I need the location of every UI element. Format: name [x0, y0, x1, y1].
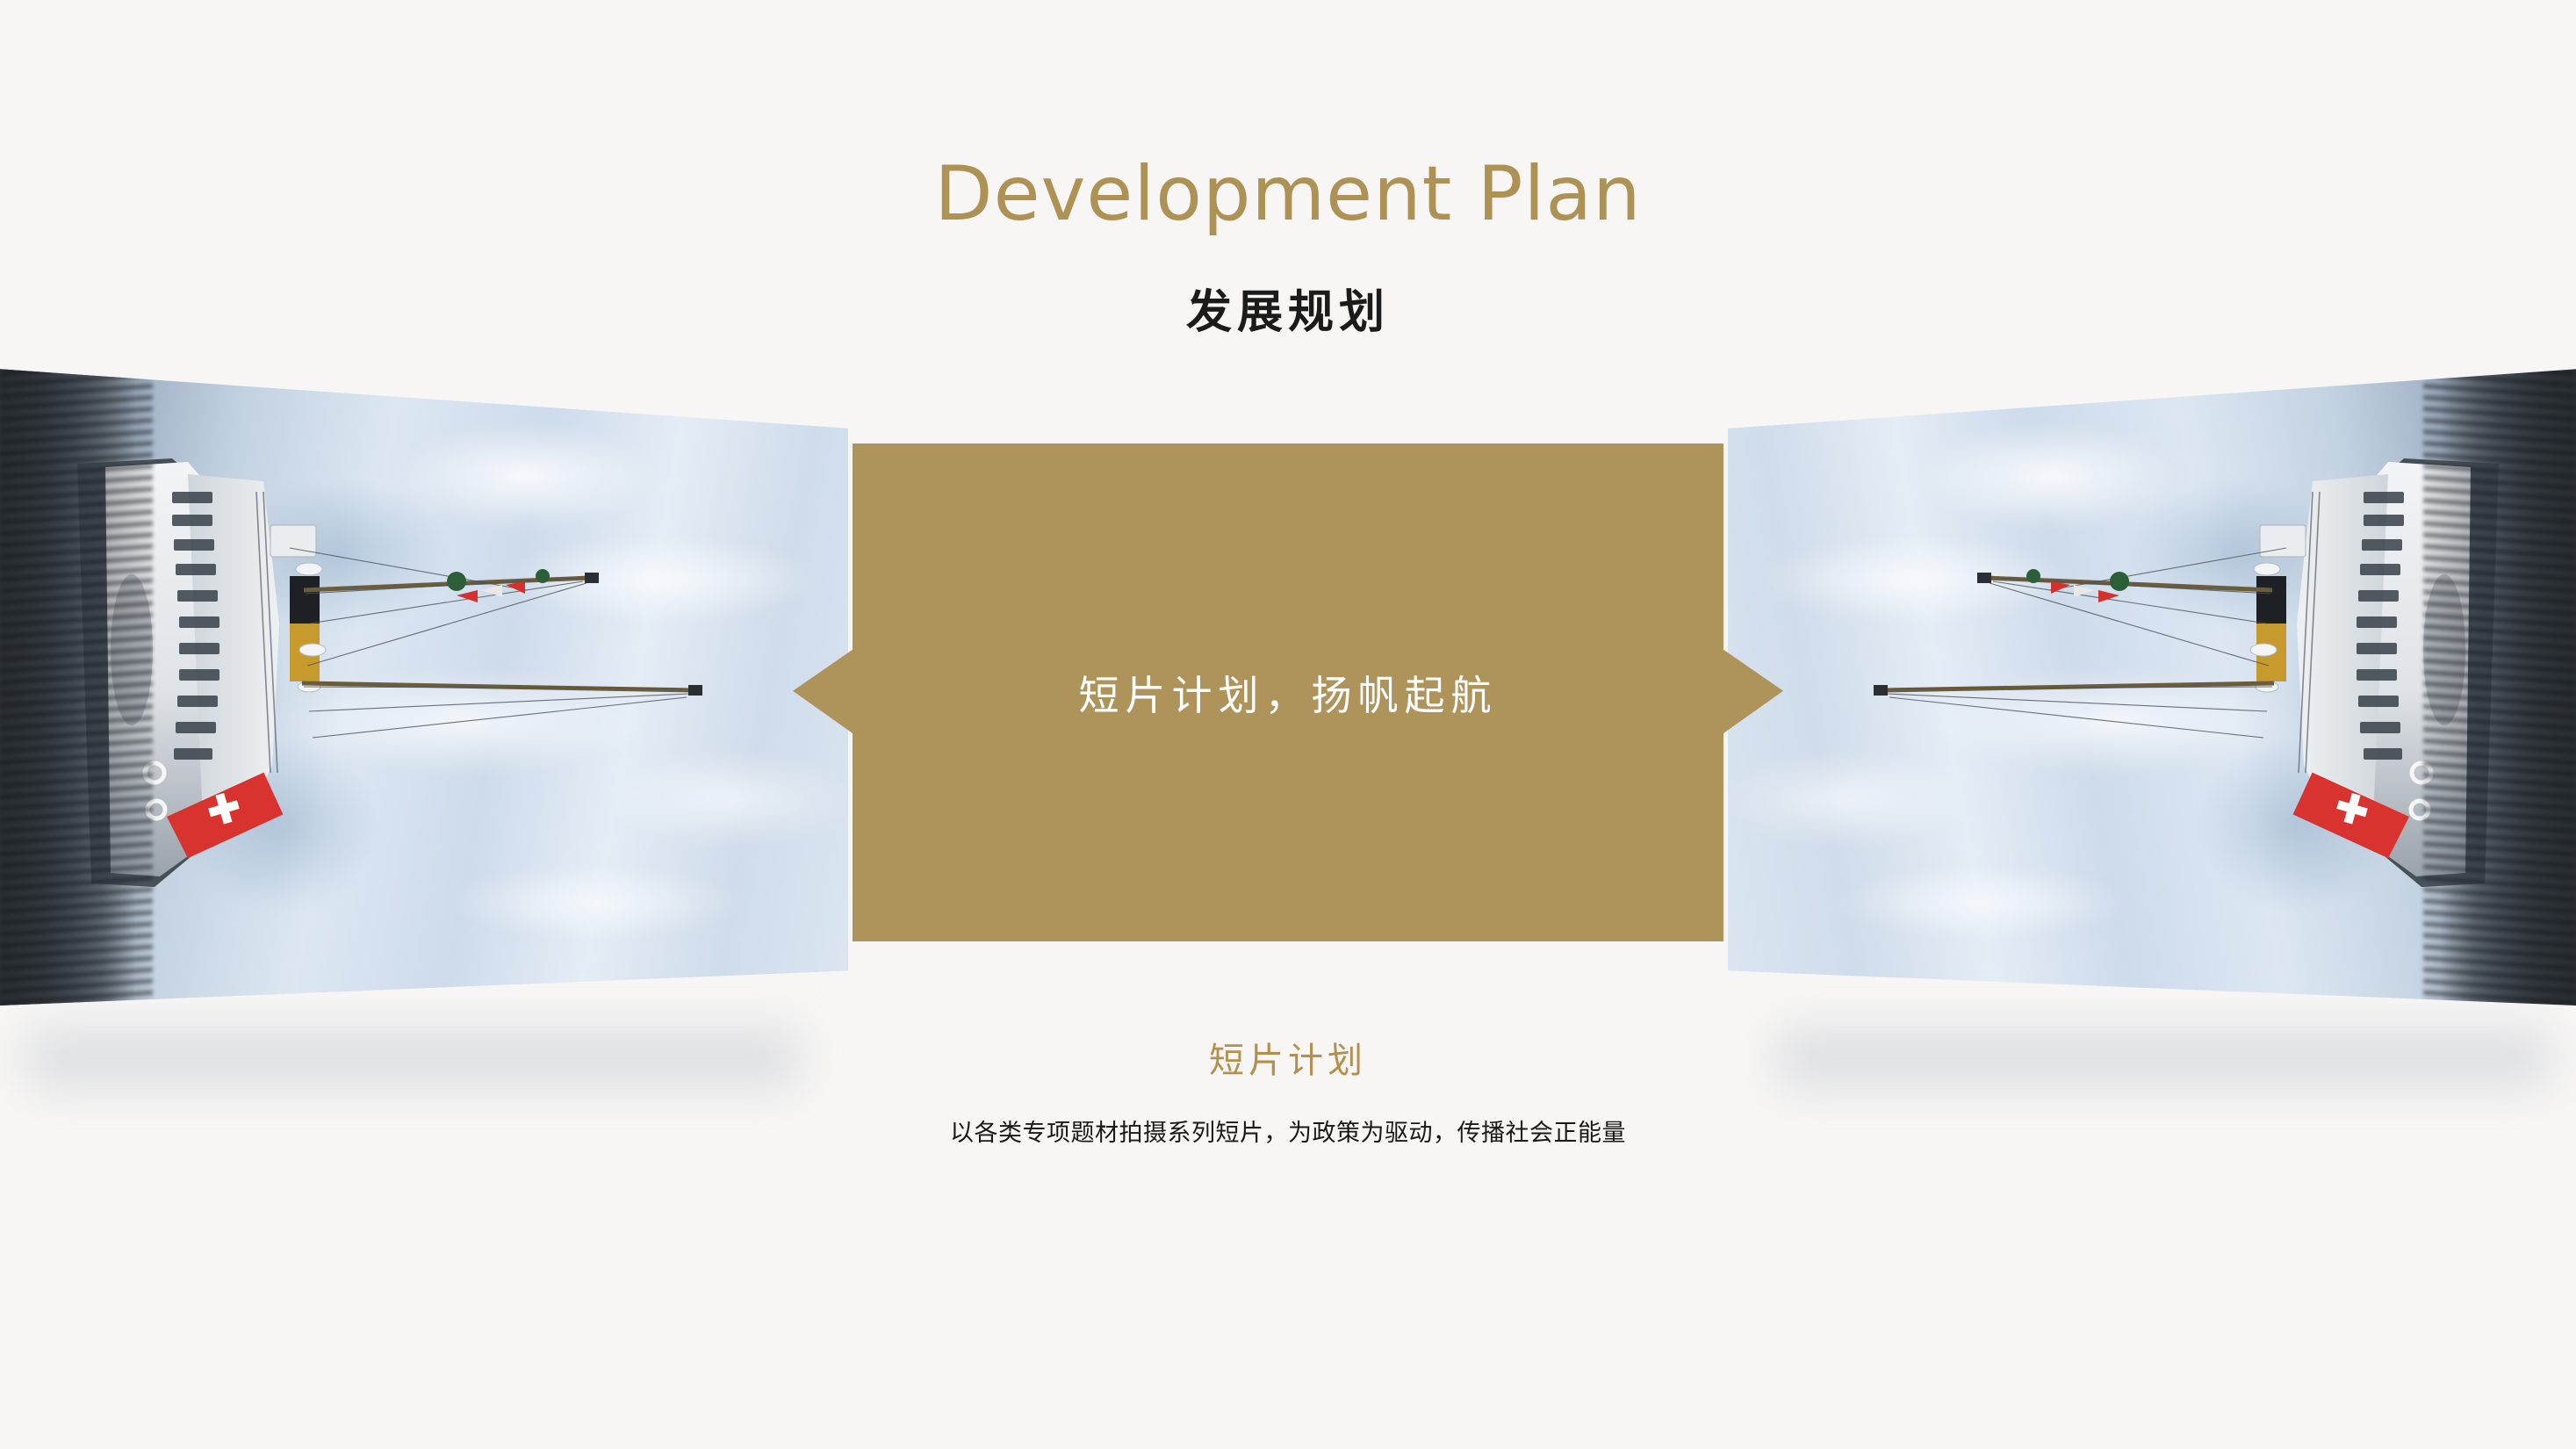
- steamship-illustration-left: [0, 360, 848, 1006]
- steamship-illustration-right: [1728, 360, 2576, 1006]
- photo-image-left: [0, 360, 848, 1006]
- photo-panel-left: [0, 360, 848, 1006]
- slide-canvas: Development Plan 发展规划: [0, 0, 2576, 1449]
- photo-panel-right: [1728, 360, 2576, 1006]
- gold-banner: 短片计划，扬帆起航: [793, 443, 1783, 941]
- caption-body: 以各类专项题材拍摄系列短片，为政策为驱动，传播社会正能量: [0, 1114, 2576, 1148]
- page-title-chinese: 发展规划: [0, 290, 2576, 335]
- page-title-english: Development Plan: [0, 156, 2576, 232]
- gold-banner-text: 短片计划，扬帆起航: [793, 664, 1783, 722]
- caption-title: 短片计划: [0, 1032, 2576, 1083]
- photo-image-right: [1728, 360, 2576, 1006]
